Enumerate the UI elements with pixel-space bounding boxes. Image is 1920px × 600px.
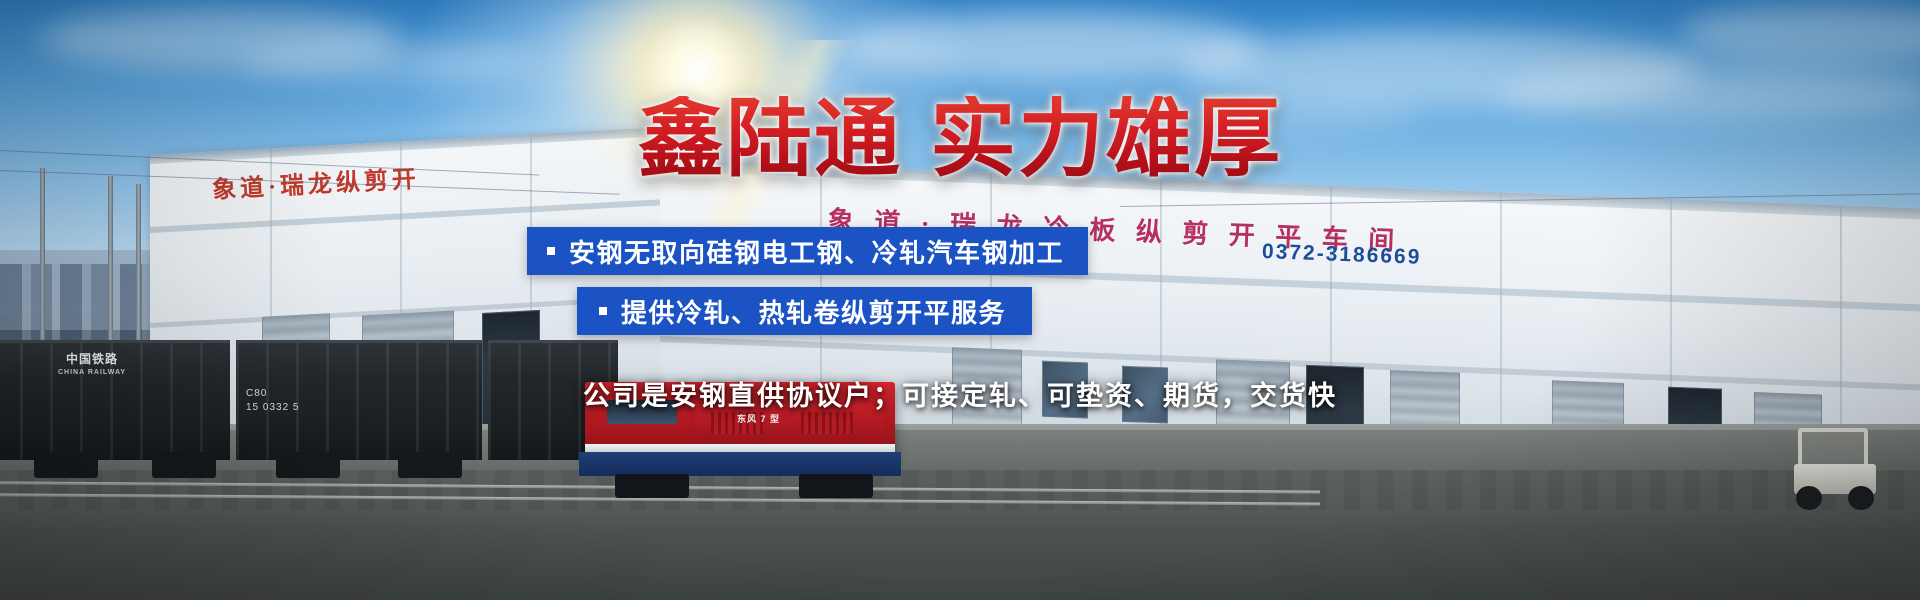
square-bullet-icon xyxy=(599,307,607,315)
hero-banner: 象道·瑞龙纵剪开 象 道 · 瑞 龙 冷 板 纵 剪 开 平 车 间 0372-… xyxy=(0,0,1920,600)
cloud-shape xyxy=(1680,4,1920,64)
feature-box-2[interactable]: 提供冷轧、热轧卷纵剪开平服务 xyxy=(577,287,1032,335)
car-bogie xyxy=(398,452,462,478)
locomotive-skirt xyxy=(579,452,901,476)
feature-box-1-label: 安钢无取向硅钢电工钢、冷轧汽车钢加工 xyxy=(569,233,1064,270)
forklift-vehicle xyxy=(1780,428,1900,508)
forklift-wheel xyxy=(1796,486,1822,510)
railway-logo-cn: 中国铁路 xyxy=(58,352,126,368)
car-bogie xyxy=(34,452,98,478)
forklift-cage xyxy=(1798,428,1868,468)
locomotive: 东风 7 型 xyxy=(555,342,920,492)
cloud-shape xyxy=(1500,66,1920,120)
cloud-shape xyxy=(240,42,540,82)
locomotive-truck xyxy=(799,474,873,498)
square-bullet-icon xyxy=(547,247,555,255)
feature-box-1[interactable]: 安钢无取向硅钢电工钢、冷轧汽车钢加工 xyxy=(527,227,1088,275)
locomotive-number: 东风 7 型 xyxy=(737,412,780,425)
locomotive-truck xyxy=(615,474,689,498)
locomotive-stripe xyxy=(585,444,895,452)
car-bogie xyxy=(276,452,340,478)
cloud-shape xyxy=(1060,96,1420,132)
feature-box-2-label: 提供冷轧、热轧卷纵剪开平服务 xyxy=(621,293,1006,330)
railway-logo: 中国铁路 CHINA RAILWAY xyxy=(58,352,126,377)
forklift-wheel xyxy=(1848,486,1874,510)
hero-tagline: 公司是安钢直供协议户；可接定轧、可垫资、期货，交货快 xyxy=(0,374,1920,413)
car-bogie xyxy=(152,452,216,478)
locomotive-grill xyxy=(801,412,853,434)
